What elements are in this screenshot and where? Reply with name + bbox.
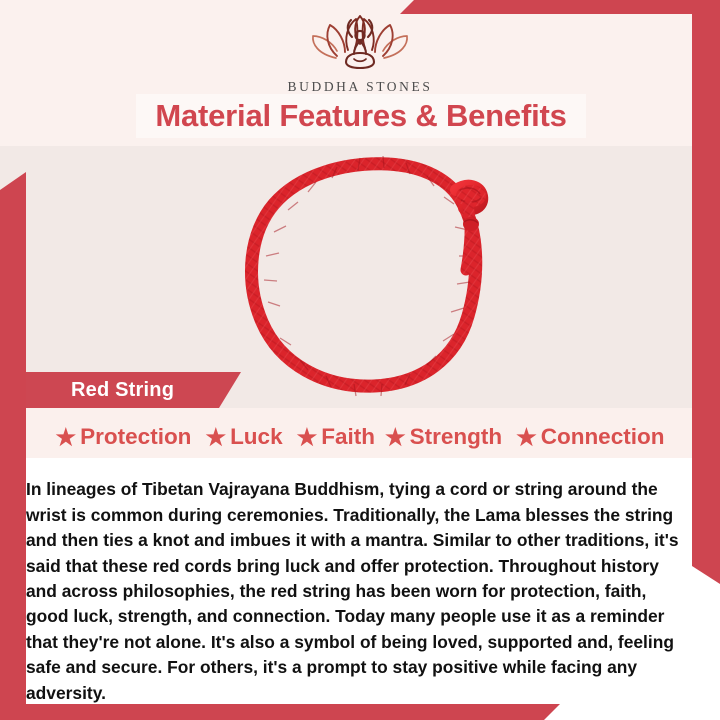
star-icon: ★ xyxy=(385,426,406,449)
benefit-keyword-connection: ★ Connection xyxy=(516,424,664,450)
star-icon: ★ xyxy=(297,426,318,449)
decorative-frame-left xyxy=(0,172,26,720)
benefit-keyword-protection: ★ Protection xyxy=(56,424,192,450)
decorative-frame-top-right xyxy=(400,0,720,14)
benefit-keyword-luck: ★ Luck xyxy=(205,424,282,450)
benefit-keyword-label: Protection xyxy=(80,424,191,450)
benefit-keyword-label: Faith xyxy=(321,424,375,450)
page-title-bar: Material Features & Benefits xyxy=(136,94,586,138)
star-icon: ★ xyxy=(56,426,77,449)
star-icon: ★ xyxy=(516,426,537,449)
star-icon: ★ xyxy=(205,426,226,449)
infographic-page: BUDDHA STONES Material Features & Benefi… xyxy=(0,0,720,720)
benefit-keyword-strength: ★ Strength xyxy=(385,424,502,450)
benefit-keyword-label: Luck xyxy=(230,424,283,450)
brand-name: BUDDHA STONES xyxy=(0,79,720,95)
benefit-keyword-label: Strength xyxy=(410,424,503,450)
product-label-text: Red String xyxy=(71,379,174,402)
product-image-red-string-bracelet xyxy=(228,152,500,400)
benefit-keyword-faith: ★ Faith xyxy=(297,424,375,450)
benefit-keyword-label: Connection xyxy=(541,424,665,450)
decorative-frame-bottom-left xyxy=(0,704,560,720)
benefit-keyword-row: ★ Protection ★ Luck ★ Faith ★ Strength ★… xyxy=(26,420,694,454)
lotus-meditation-icon xyxy=(0,14,720,77)
page-title: Material Features & Benefits xyxy=(155,98,566,134)
brand-logo: BUDDHA STONES xyxy=(0,14,720,95)
description-paragraph: In lineages of Tibetan Vajrayana Buddhis… xyxy=(26,477,694,706)
product-label-ribbon: Red String xyxy=(26,372,241,408)
